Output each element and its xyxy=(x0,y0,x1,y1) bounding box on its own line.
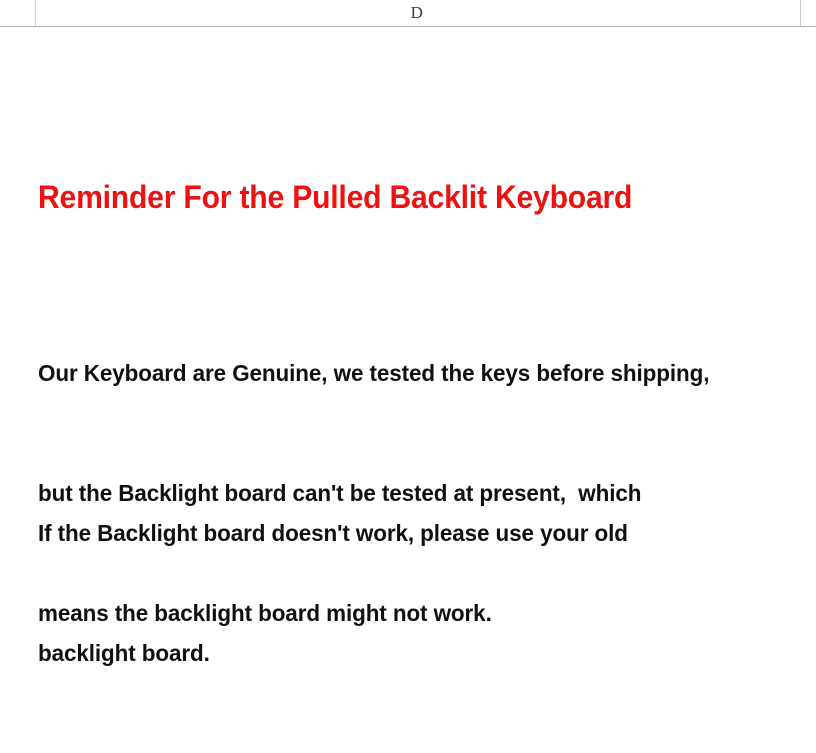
paragraph-use-old-board: If the Backlight board doesn't work, ple… xyxy=(38,433,628,753)
column-header-d-label: D xyxy=(411,4,424,21)
paragraph-line: If the Backlight board doesn't work, ple… xyxy=(38,513,628,553)
select-all-corner-cell[interactable] xyxy=(0,0,36,26)
column-header-d[interactable]: D xyxy=(36,0,801,26)
sheet-content-area[interactable]: Reminder For the Pulled Backlit Keyboard… xyxy=(0,27,816,631)
column-header-overflow xyxy=(801,0,816,26)
page-title: Reminder For the Pulled Backlit Keyboard xyxy=(38,179,632,216)
paragraph-line: Our Keyboard are Genuine, we tested the … xyxy=(38,353,709,393)
paragraph-line: backlight board. xyxy=(38,633,628,673)
column-header-row: D xyxy=(0,0,816,27)
